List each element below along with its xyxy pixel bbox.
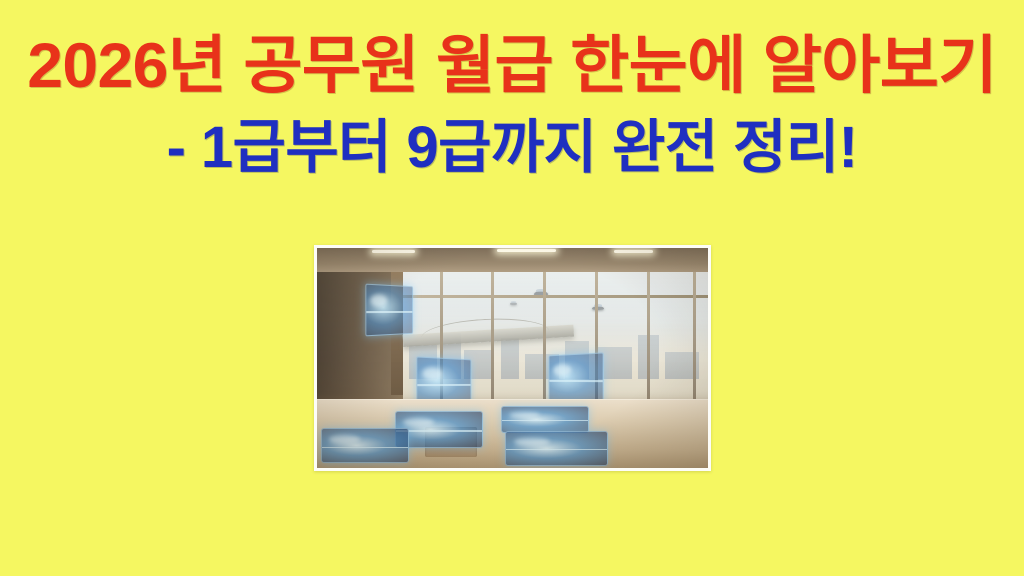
window-mullion xyxy=(543,272,546,408)
flying-drone xyxy=(510,302,517,305)
table-display xyxy=(505,431,609,466)
hero-photo xyxy=(317,248,708,468)
ceiling-light xyxy=(372,250,415,253)
headline-line-2: - 1급부터 9급까지 완전 정리! xyxy=(0,118,1024,177)
hero-photo-frame xyxy=(314,245,711,471)
table-display xyxy=(321,428,409,463)
ceiling-light xyxy=(497,249,556,252)
table-display xyxy=(501,406,589,432)
window-mullion xyxy=(491,272,494,408)
title-block: 2026년 공무원 월급 한눈에 알아보기 - 1급부터 9급까지 완전 정리! xyxy=(0,34,1024,177)
ceiling-light xyxy=(614,250,653,253)
window-mullion xyxy=(693,272,696,408)
window-mullion xyxy=(647,272,650,408)
holographic-panel xyxy=(365,284,413,337)
headline-line-1: 2026년 공무원 월급 한눈에 알아보기 xyxy=(0,34,1024,98)
window-transom xyxy=(403,295,708,298)
holographic-panel xyxy=(548,352,603,406)
thumbnail-canvas: 2026년 공무원 월급 한눈에 알아보기 - 1급부터 9급까지 완전 정리! xyxy=(0,0,1024,576)
